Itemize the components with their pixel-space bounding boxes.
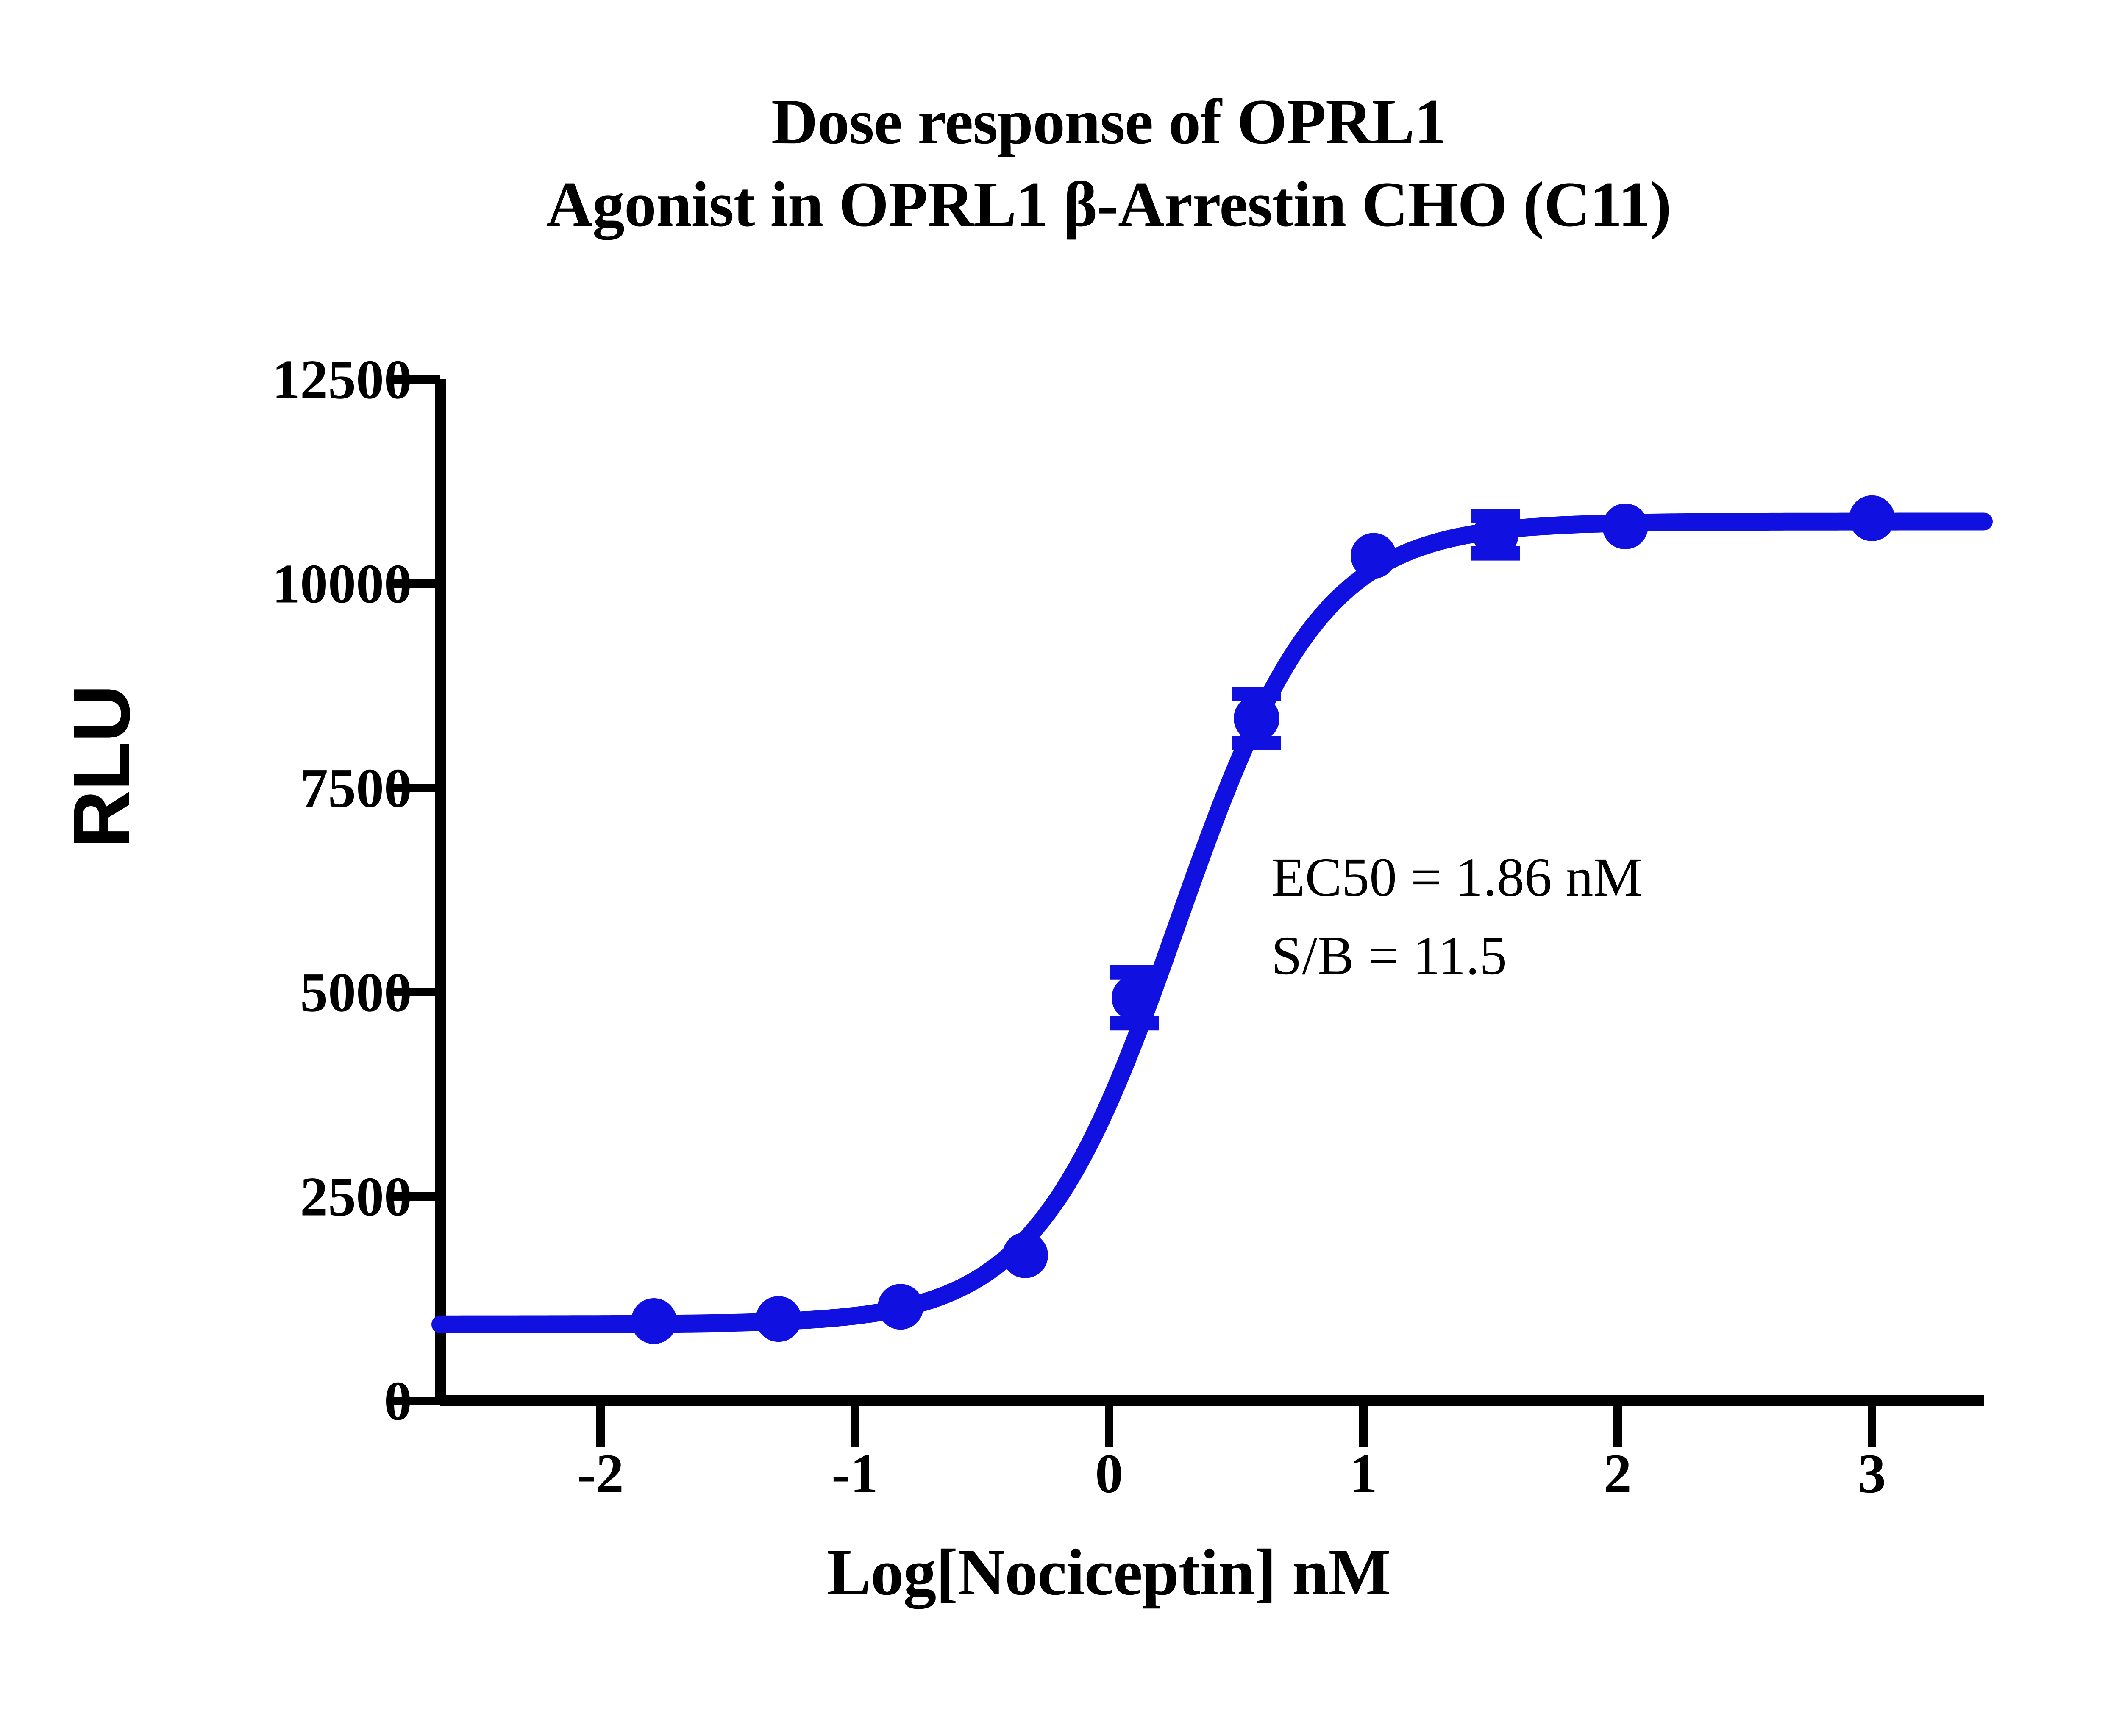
data-point-marker [1112, 975, 1157, 1021]
data-point-marker [1234, 696, 1279, 741]
data-point-marker [1351, 533, 1396, 579]
data-points [631, 495, 1895, 1344]
data-point-marker [756, 1296, 801, 1342]
data-point-marker [1849, 495, 1895, 541]
plot-area [0, 0, 2119, 1736]
data-point-marker [1002, 1232, 1048, 1278]
data-point-marker [631, 1298, 677, 1344]
axes [440, 379, 1984, 1401]
fit-curve [440, 522, 1984, 1324]
tick-marks [394, 379, 1872, 1447]
figure-root: Dose response of OPRL1 Agonist in OPRL1 … [0, 0, 2119, 1736]
data-point-marker [878, 1284, 923, 1330]
data-point-marker [1473, 512, 1518, 557]
data-point-marker [1602, 504, 1648, 549]
dose-response-curve [440, 522, 1984, 1324]
